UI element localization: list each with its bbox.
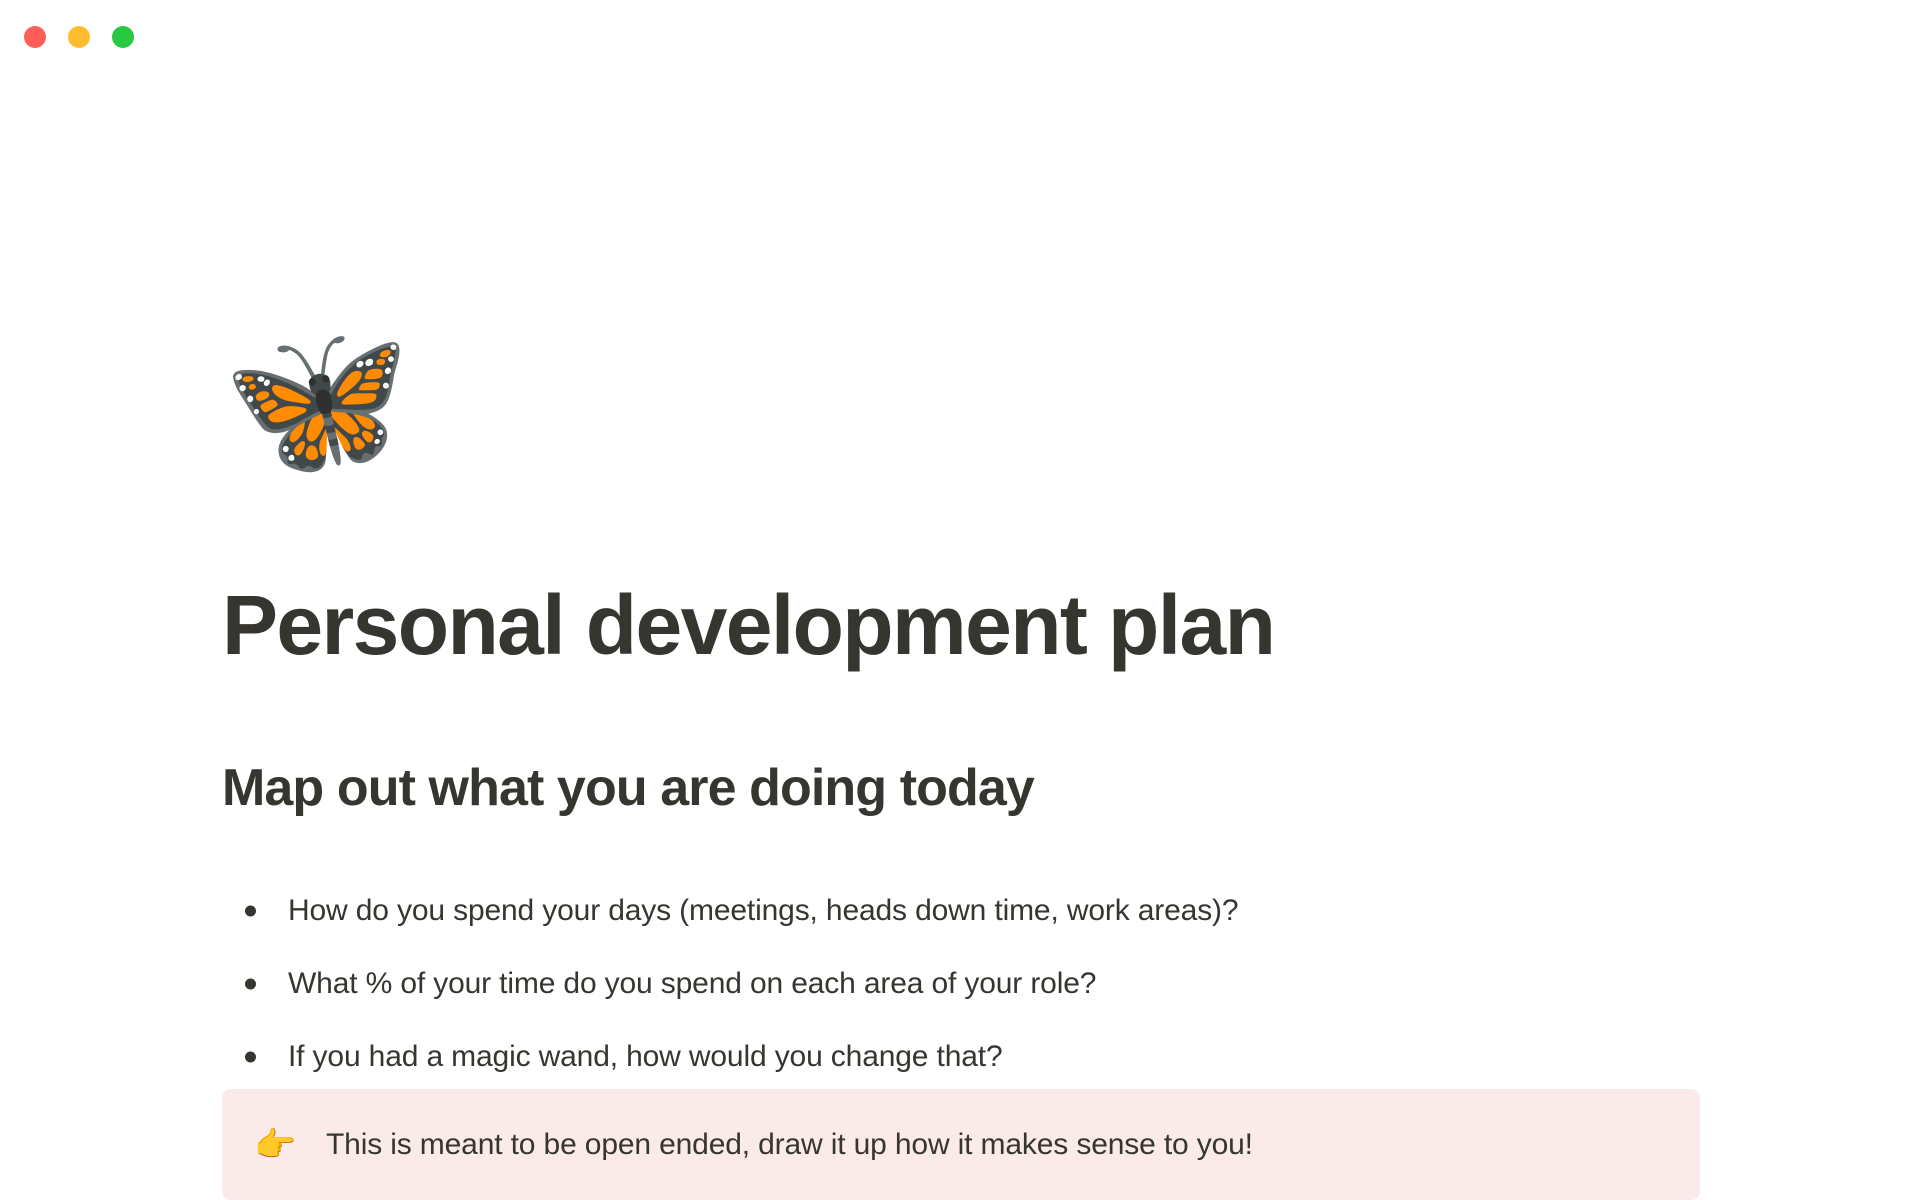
list-item[interactable]: What % of your time do you spend on each… xyxy=(222,947,1702,1020)
bullet-dot-icon xyxy=(245,1051,256,1062)
callout-block[interactable]: 👉 This is meant to be open ended, draw i… xyxy=(222,1089,1700,1200)
list-item[interactable]: If you had a magic wand, how would you c… xyxy=(222,1020,1702,1093)
list-item-text: How do you spend your days (meetings, he… xyxy=(288,889,1238,933)
list-item-text: What % of your time do you spend on each… xyxy=(288,962,1096,1006)
bullet-dot-icon xyxy=(245,978,256,989)
page-title[interactable]: Personal development plan xyxy=(222,575,1722,675)
document-canvas[interactable]: 🦋 Personal development plan Map out what… xyxy=(0,0,1920,1200)
bullet-dot-icon xyxy=(245,905,256,916)
pointing-right-emoji-icon: 👉 xyxy=(254,1122,300,1168)
list-item-text: If you had a magic wand, how would you c… xyxy=(288,1035,1003,1079)
callout-text: This is meant to be open ended, draw it … xyxy=(326,1123,1253,1167)
bullet-list: How do you spend your days (meetings, he… xyxy=(222,874,1702,1093)
section-heading[interactable]: Map out what you are doing today xyxy=(222,755,1722,821)
butterfly-emoji[interactable]: 🦋 xyxy=(222,312,398,488)
list-item[interactable]: How do you spend your days (meetings, he… xyxy=(222,874,1702,947)
